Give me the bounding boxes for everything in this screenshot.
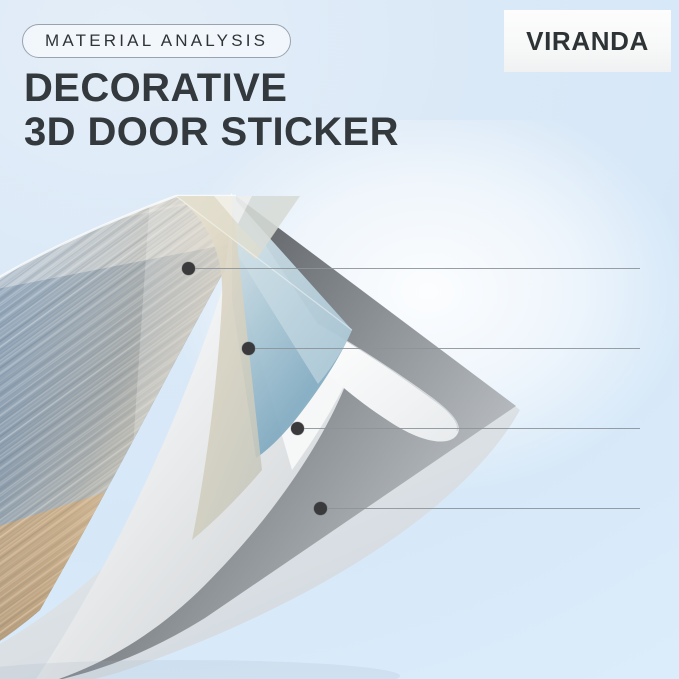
title-line-1: DECORATIVE [24, 66, 544, 110]
poster-canvas: MATERIAL ANALYSIS DECORATIVE 3D DOOR STI… [0, 0, 679, 679]
callout-line-1 [195, 268, 640, 269]
callout-dot-3 [291, 422, 304, 435]
callout-dot-4 [314, 502, 327, 515]
callout-line-4 [327, 508, 640, 509]
brand-name: VIRANDA [526, 26, 649, 57]
callout-dot-1 [182, 262, 195, 275]
callout-line-2 [255, 348, 640, 349]
page-title: DECORATIVE 3D DOOR STICKER [24, 66, 544, 154]
callout-line-3 [304, 428, 640, 429]
brand-logo-box: VIRANDA [504, 10, 671, 72]
badge-material-analysis: MATERIAL ANALYSIS [22, 24, 291, 58]
callout-dot-2 [242, 342, 255, 355]
title-line-2: 3D DOOR STICKER [24, 110, 544, 154]
badge-label: MATERIAL ANALYSIS [45, 31, 268, 51]
